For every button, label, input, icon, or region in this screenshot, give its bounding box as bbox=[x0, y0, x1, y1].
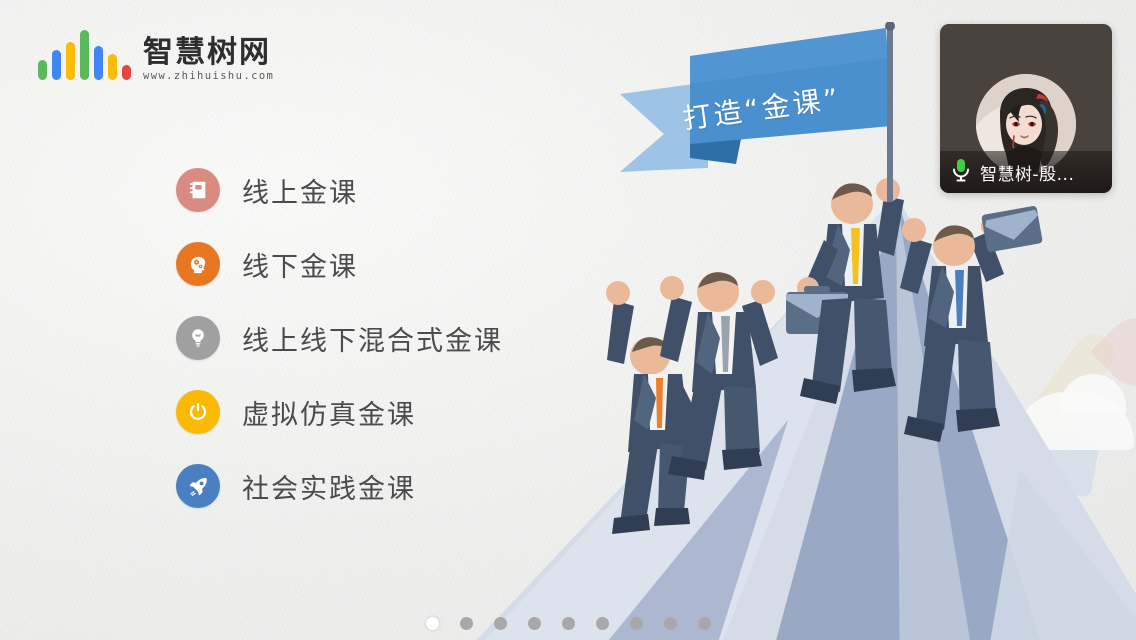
list-item[interactable]: 线上线下混合式金课 bbox=[176, 316, 503, 360]
flag-banner: 打造“金课” bbox=[612, 22, 912, 202]
logo-bar-6 bbox=[122, 65, 131, 80]
list-item-label: 虚拟仿真金课 bbox=[242, 393, 416, 432]
course-type-list: 线上金课 线下金课 bbox=[176, 168, 503, 508]
pagination-dot[interactable] bbox=[494, 617, 507, 630]
pagination-dot[interactable] bbox=[698, 617, 711, 630]
pagination-dot[interactable] bbox=[460, 617, 473, 630]
video-participant-tile[interactable]: 智慧树-殷... bbox=[940, 24, 1112, 193]
list-item-label: 线上线下混合式金课 bbox=[242, 319, 503, 358]
tile-footer: 智慧树-殷... bbox=[940, 151, 1112, 193]
pagination-dots bbox=[0, 617, 1136, 630]
head-gears-icon bbox=[176, 242, 220, 286]
list-item-label: 线上金课 bbox=[242, 171, 358, 210]
microphone-icon[interactable] bbox=[950, 157, 972, 188]
list-item[interactable]: 社会实践金课 bbox=[176, 464, 503, 508]
list-item-label: 线下金课 bbox=[242, 245, 358, 284]
lightbulb-icon bbox=[176, 316, 220, 360]
list-item-label: 社会实践金课 bbox=[242, 467, 416, 506]
logo-bar-0 bbox=[38, 60, 47, 80]
book-icon bbox=[176, 168, 220, 212]
logo-bar-4 bbox=[94, 46, 103, 80]
pagination-dot[interactable] bbox=[596, 617, 609, 630]
logo-bar-3 bbox=[80, 30, 89, 80]
logo-bars-icon bbox=[38, 30, 131, 82]
logo-bar-2 bbox=[66, 42, 75, 80]
pagination-dot[interactable] bbox=[664, 617, 677, 630]
zhihuishu-logo[interactable]: 智慧树网 www.zhihuishu.com bbox=[38, 30, 274, 82]
power-icon bbox=[176, 390, 220, 434]
list-item[interactable]: 虚拟仿真金课 bbox=[176, 390, 503, 434]
pagination-dot[interactable] bbox=[426, 617, 439, 630]
participant-name: 智慧树-殷... bbox=[980, 160, 1074, 185]
pagination-dot[interactable] bbox=[528, 617, 541, 630]
list-item[interactable]: 线上金课 bbox=[176, 168, 503, 212]
list-item[interactable]: 线下金课 bbox=[176, 242, 503, 286]
logo-bar-5 bbox=[108, 54, 117, 80]
logo-website-url: www.zhihuishu.com bbox=[143, 70, 274, 82]
pagination-dot[interactable] bbox=[562, 617, 575, 630]
logo-bar-1 bbox=[52, 50, 61, 80]
logo-brand-name: 智慧树网 bbox=[143, 37, 274, 69]
rocket-icon bbox=[176, 464, 220, 508]
pagination-dot[interactable] bbox=[630, 617, 643, 630]
presentation-slide: 智慧树网 www.zhihuishu.com 打造“金课” bbox=[0, 0, 1136, 640]
